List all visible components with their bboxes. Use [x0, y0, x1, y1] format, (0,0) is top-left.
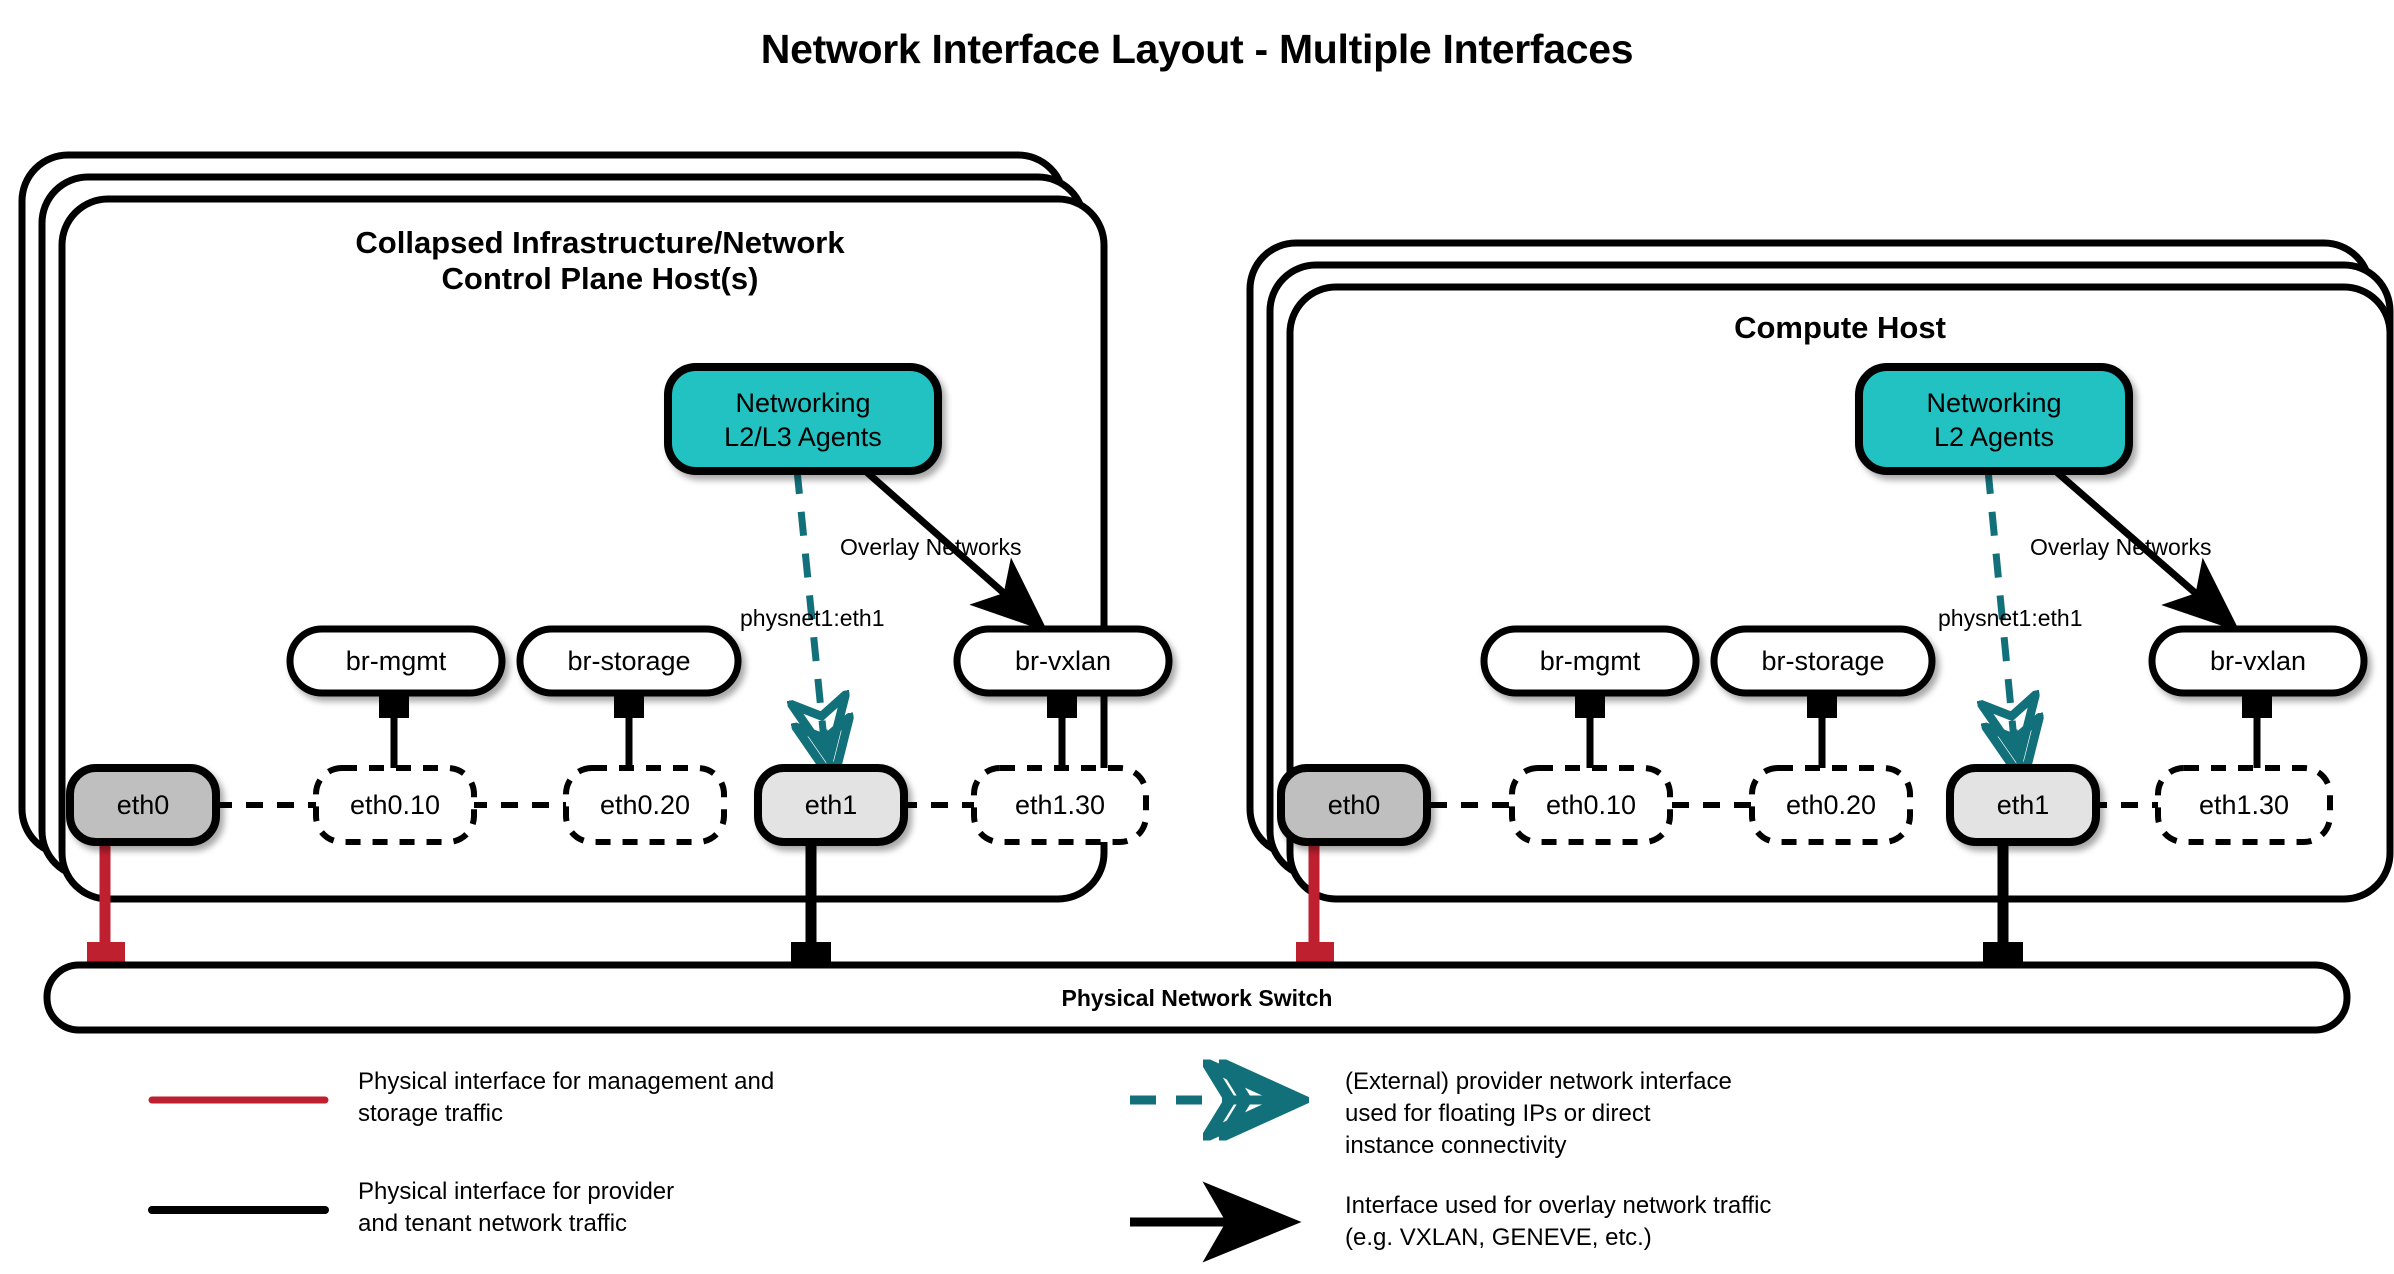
legend-text-overlay-traffic: Interface used for overlay network traff…: [1345, 1190, 1985, 1254]
agent-box-control-plane: [668, 367, 938, 471]
physical-network-switch-label: Physical Network Switch: [47, 985, 2347, 1012]
host-title-line-1: Collapsed Infrastructure/Network: [200, 225, 1000, 261]
edge-label-physnet-control-plane: physnet1:eth1: [740, 605, 885, 632]
edge-label-physnet-compute: physnet1:eth1: [1938, 605, 2083, 632]
host-title-line-2: Control Plane Host(s): [200, 261, 1000, 297]
host-title-control-plane: Collapsed Infrastructure/Network Control…: [200, 225, 1000, 297]
legend-text-provider-tenant: Physical interface for provider and tena…: [358, 1176, 918, 1240]
legend-text-external-provider: (External) provider network interface us…: [1345, 1066, 1985, 1162]
legend-text-mgmt-storage: Physical interface for management and st…: [358, 1066, 918, 1130]
host-title-line-1: Compute Host: [1490, 310, 2190, 346]
host-title-compute: Compute Host: [1490, 310, 2190, 346]
diagram-canvas: Network Interface Layout - Multiple Inte…: [0, 0, 2394, 1274]
bridge-pills-control-plane: [290, 629, 1169, 693]
edge-label-overlay-compute: Overlay Networks: [2030, 534, 2211, 561]
agent-box-compute: [1859, 367, 2129, 471]
bridge-pills-compute: [1484, 629, 2364, 693]
edge-label-overlay-control-plane: Overlay Networks: [840, 534, 1021, 561]
